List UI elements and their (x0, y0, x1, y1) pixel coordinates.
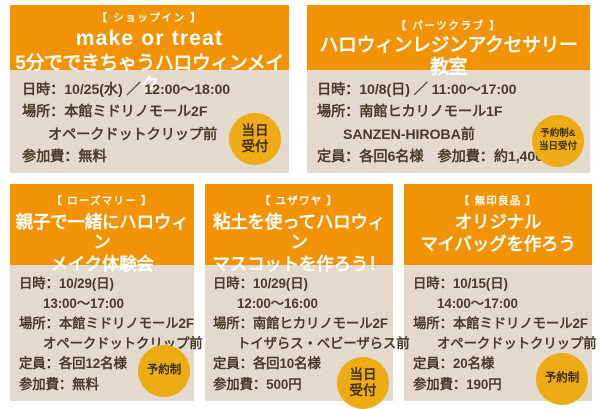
status-badge-line-2: 受付 (242, 139, 269, 155)
event-row-bottom: 【 ローズマリー 】 親子で一緒にハロウィン メイク体験会 日時：10/29(日… (10, 184, 590, 401)
card-shop-name: 【 ローズマリー 】 (14, 194, 190, 208)
card-shop-name: 【 ショップイン 】 (14, 11, 285, 25)
status-badge-line-1: 予約制 (545, 372, 580, 386)
status-badge: 予約制 (138, 345, 190, 397)
card-detail-datetime: 日時：10/8(日) ／ 11:00〜17:00 (317, 79, 590, 101)
card-title-line-2: マイバッグを作ろう (408, 235, 588, 255)
card-shop-name: 【 ユザワヤ 】 (209, 194, 389, 208)
card-detail-place: 場所：本館ミドリノモール2F (19, 314, 194, 334)
status-badge: 予約制 (536, 353, 588, 405)
card-detail-time: 13:00〜17:00 (19, 294, 194, 314)
card-detail-datetime: 日時：10/29(日) (19, 274, 194, 294)
status-badge-line-1: 当日 (242, 123, 269, 139)
card-detail-place-sub: オペークドットクリップ前 (413, 334, 592, 354)
card-detail-time: 12:00〜16:00 (213, 294, 393, 314)
status-badge-line-2: 当日受付 (539, 141, 577, 154)
card-detail-datetime: 日時：10/25(水) ／ 12:00〜18:00 (22, 79, 289, 101)
card-detail-datetime: 日時：10/29(日) (213, 274, 393, 294)
card-detail-datetime: 日時：10/15(日) (413, 274, 592, 294)
status-badge-line-2: 受付 (350, 383, 377, 399)
card-title-line-1: make or treat (14, 27, 285, 51)
card-detail-time: 14:00〜17:00 (413, 294, 592, 314)
card-detail-place: 場所：本館ミドリノモール2F (413, 314, 592, 334)
card-shop-name: 【 無印良品 】 (408, 194, 588, 208)
card-shop-name: 【 パーツクラブ 】 (311, 19, 586, 33)
event-card-board: 【 ショップイン 】 make or treat 5分でできちゃうハロウィンメイ… (0, 0, 600, 406)
event-card-shopin[interactable]: 【 ショップイン 】 make or treat 5分でできちゃうハロウィンメイ… (10, 5, 289, 173)
event-card-yuzawaya[interactable]: 【 ユザワヤ 】 粘土を使ってハロウィン マスコットを作ろう！ 日時：10/29… (205, 184, 393, 401)
status-badge-line-1: 当日 (350, 367, 377, 383)
card-title-line-1: 親子で一緒にハロウィン (14, 213, 190, 253)
event-card-muji[interactable]: 【 無印良品 】 オリジナル マイバッグを作ろう 日時：10/15(日) 14:… (404, 184, 592, 401)
status-badge-line-1: 予約制& (539, 128, 577, 141)
status-badge: 当日 受付 (229, 113, 281, 165)
card-header: 【 ローズマリー 】 親子で一緒にハロウィン メイク体験会 (10, 184, 194, 265)
event-card-partsclub[interactable]: 【 パーツクラブ 】 ハロウィンレジンアクセサリー教室 日時：10/8(日) ／… (307, 5, 590, 173)
card-title-line-1: オリジナル (408, 213, 588, 233)
card-detail-place: 場所：南館ヒカリノモール2F (213, 314, 393, 334)
event-row-top: 【 ショップイン 】 make or treat 5分でできちゃうハロウィンメイ… (10, 5, 590, 173)
status-badge: 予約制& 当日受付 (532, 115, 584, 167)
status-badge-line-1: 予約制 (147, 364, 182, 378)
card-detail-place-sub: トイザらス・ベビーザらス前 (213, 334, 393, 354)
card-header: 【 パーツクラブ 】 ハロウィンレジンアクセサリー教室 (307, 5, 590, 70)
status-badge: 当日 受付 (337, 357, 389, 409)
event-card-rosemary[interactable]: 【 ローズマリー 】 親子で一緒にハロウィン メイク体験会 日時：10/29(日… (10, 184, 194, 401)
card-header: 【 ユザワヤ 】 粘土を使ってハロウィン マスコットを作ろう！ (205, 184, 393, 265)
card-header: 【 ショップイン 】 make or treat 5分でできちゃうハロウィンメイ… (10, 5, 289, 70)
card-title-line-1: 粘土を使ってハロウィン (209, 213, 389, 253)
card-header: 【 無印良品 】 オリジナル マイバッグを作ろう (404, 184, 592, 265)
